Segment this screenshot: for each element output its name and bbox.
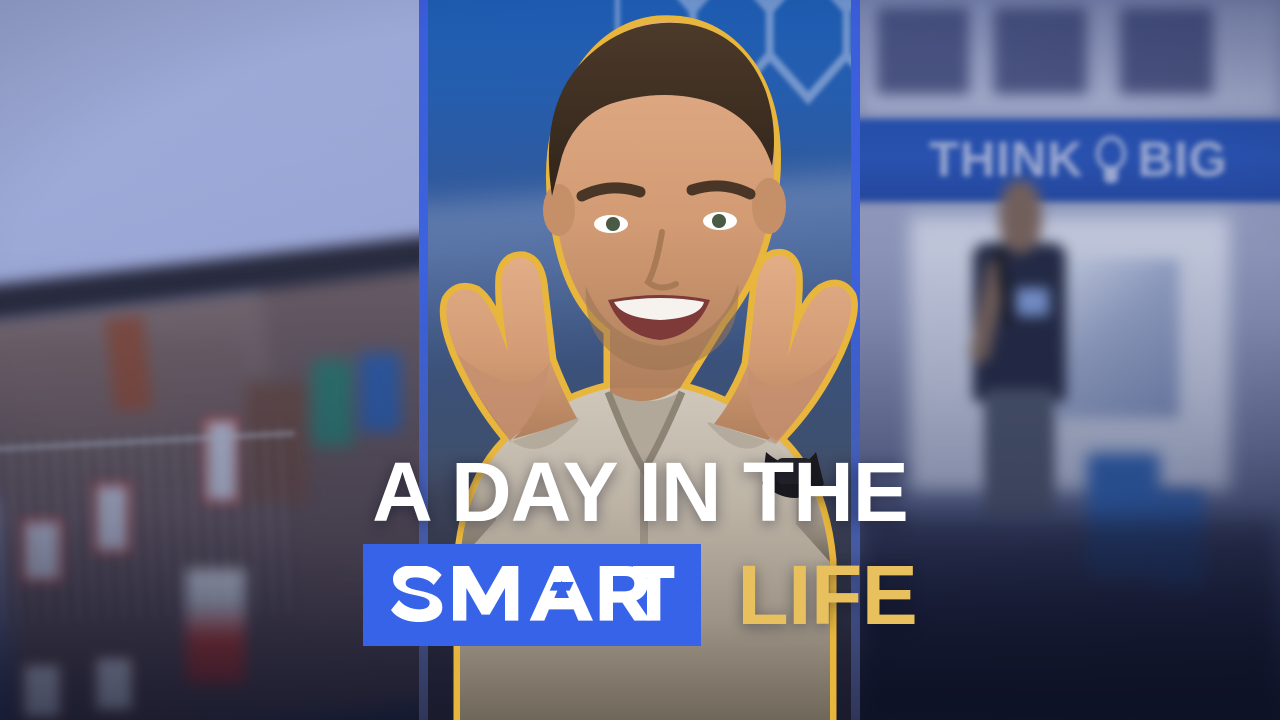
lightbulb-base <box>1104 168 1118 183</box>
slide-image <box>1053 259 1179 417</box>
title-line-2: LIFE <box>363 544 918 646</box>
smart-wordmark-icon <box>389 566 676 622</box>
smart-logo-box <box>363 544 702 646</box>
banner-word-big: BIG <box>1138 132 1228 188</box>
speaker-shirt-badge <box>1016 288 1049 317</box>
ceiling-panel <box>1120 7 1212 93</box>
lightbulb-glass <box>1096 136 1126 170</box>
title-block: A DAY IN THE <box>0 452 1280 646</box>
youtube-thumbnail: THINK BIG <box>0 0 1280 720</box>
title-life-word: LIFE <box>737 553 917 637</box>
window <box>93 655 135 713</box>
window <box>21 662 63 720</box>
lightbulb-icon <box>1094 136 1128 184</box>
title-line-1: A DAY IN THE <box>372 452 908 533</box>
